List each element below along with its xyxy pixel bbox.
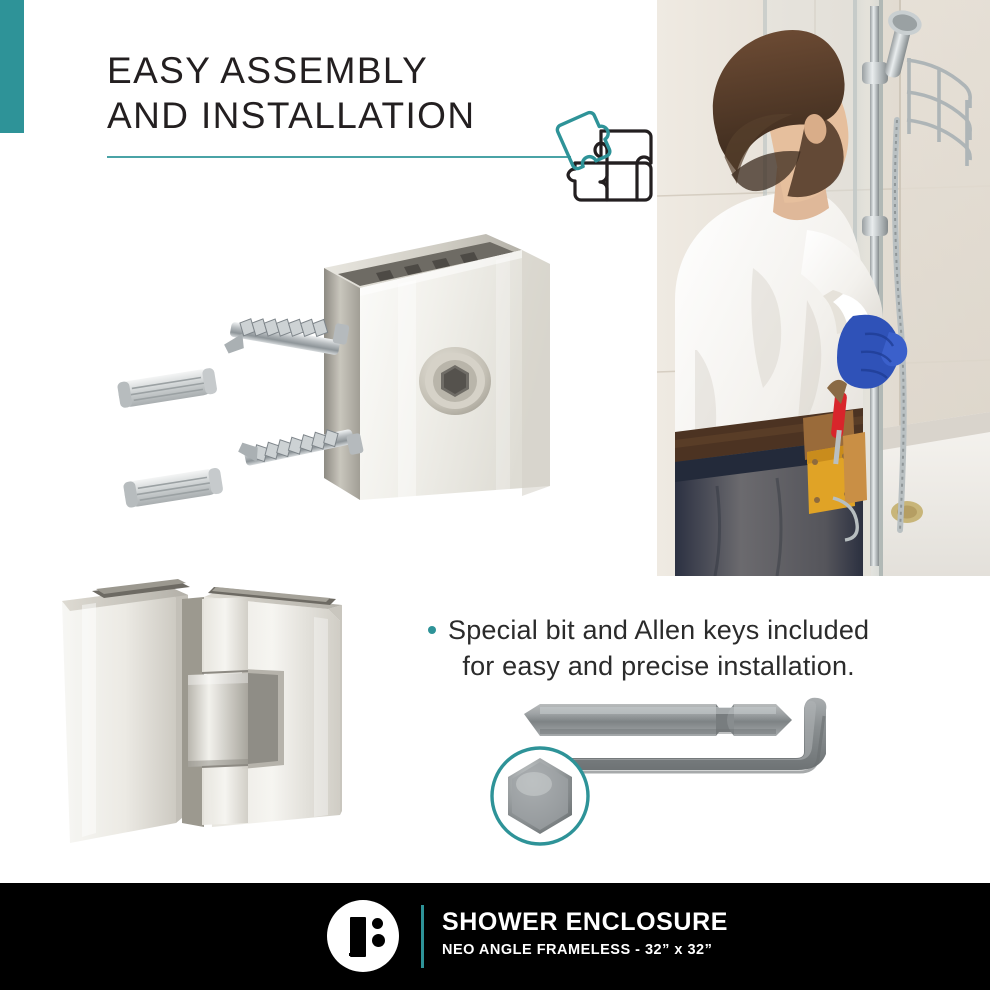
footer-product-title: SHOWER ENCLOSURE	[442, 907, 728, 937]
logo-micro-dot	[349, 953, 352, 956]
logo-dot-lower	[372, 934, 385, 947]
footer-divider	[421, 905, 424, 968]
installation-photo	[657, 0, 990, 576]
logo-bar-shape	[350, 917, 366, 957]
footer-text-block: SHOWER ENCLOSURE NEO ANGLE FRAMELESS - 3…	[442, 907, 728, 961]
glass-hinge-product-image	[52, 565, 362, 865]
teal-corner-accent-bar	[0, 0, 24, 133]
title-underline-rule	[107, 156, 571, 158]
logo-dot-upper	[372, 918, 383, 929]
footer-bar: SHOWER ENCLOSURE NEO ANGLE FRAMELESS - 3…	[0, 883, 990, 990]
puzzle-piece-icon	[545, 98, 665, 208]
page-title: EASY ASSEMBLY AND INSTALLATION	[107, 48, 577, 138]
feature-bullet-list: Special bit and Allen keys included for …	[428, 612, 928, 684]
glass-clamp-product-image	[98, 228, 568, 528]
tools-image	[468, 688, 893, 853]
bullet-dot-icon	[428, 626, 436, 634]
bullet-text: Special bit and Allen keys included for …	[448, 612, 869, 684]
brand-logo-mark	[327, 900, 399, 972]
infographic-page: EASY ASSEMBLY AND INSTALLATION	[0, 0, 990, 990]
footer-product-subtitle: NEO ANGLE FRAMELESS - 32” x 32”	[442, 939, 728, 961]
